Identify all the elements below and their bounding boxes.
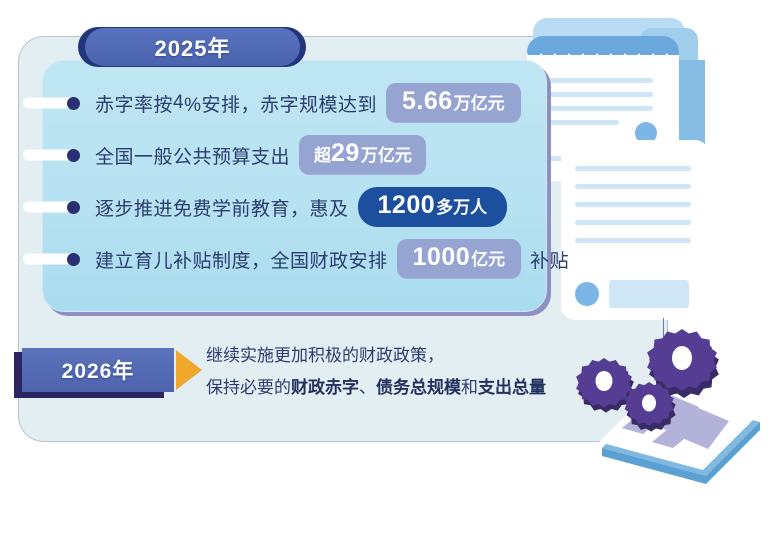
- document-block: [609, 280, 689, 308]
- row-text-middle: %安排，赤字规模达到: [184, 90, 377, 117]
- row-inline-number: 4: [173, 92, 184, 114]
- row-text-after: 补贴: [530, 246, 569, 273]
- list-item: 建立育儿补贴制度，全国财政安排 1000亿元 补贴: [43, 233, 546, 285]
- badge-value: 1200: [378, 191, 436, 220]
- badge-unit: 多万人: [436, 193, 487, 218]
- line2-pre: 保持必要的: [206, 378, 291, 397]
- line2-bold-1: 财政赤字: [291, 378, 359, 397]
- badge-value: 29: [331, 139, 360, 168]
- bullet-marker: [23, 202, 79, 213]
- list-item: 逐步推进免费学前教育，惠及 1200多万人: [43, 181, 546, 233]
- line2-mid-2: 和: [461, 378, 478, 397]
- year-2026-text: 继续实施更加积极的财政政策， 保持必要的财政赤字、债务总规模和支出总量: [206, 340, 626, 404]
- line2-mid-1: 、: [359, 378, 376, 397]
- badge-value: 1000: [413, 243, 471, 272]
- line2-bold-2: 债务总规模: [376, 378, 461, 397]
- status-badge: 1200多万人: [358, 187, 508, 227]
- status-badge: 5.66万亿元: [386, 83, 521, 123]
- badge-unit: 万亿元: [454, 89, 505, 114]
- bullet-marker: [23, 150, 79, 161]
- badge-unit: 万亿元: [361, 141, 412, 166]
- row-text-before: 建立育儿补贴制度，全国财政安排: [95, 246, 388, 273]
- year-2026-line1: 继续实施更加积极的财政政策，: [206, 340, 626, 372]
- year-2026-tab[interactable]: 2026年: [22, 348, 174, 392]
- statement-list: 赤字率按4%安排，赤字规模达到 5.66万亿元 全国一般公共预算支出 超29万亿…: [43, 77, 546, 285]
- infographic-canvas: 赤字率按4%安排，赤字规模达到 5.66万亿元 全国一般公共预算支出 超29万亿…: [0, 0, 768, 533]
- year-2026-tab-label: 2026年: [62, 355, 135, 385]
- year-2026-line2: 保持必要的财政赤字、债务总规模和支出总量: [206, 372, 626, 404]
- badge-value: 5.66: [402, 87, 453, 116]
- row-text-before: 全国一般公共预算支出: [95, 142, 290, 169]
- document-card-bottom: [561, 140, 709, 320]
- status-badge: 1000亿元: [397, 239, 522, 279]
- gear-icon-medium: [625, 382, 676, 432]
- bullet-marker: [23, 98, 79, 109]
- list-item: 全国一般公共预算支出 超29万亿元: [43, 129, 546, 181]
- triangle-right-icon: [176, 350, 202, 390]
- year-2025-panel: 赤字率按4%安排，赤字规模达到 5.66万亿元 全国一般公共预算支出 超29万亿…: [42, 60, 547, 312]
- bullet-marker: [23, 254, 79, 265]
- zigzag-edge-icon: [527, 53, 679, 63]
- badge-unit: 亿元: [471, 245, 505, 270]
- year-2025-tab[interactable]: 2025年: [85, 28, 300, 66]
- status-badge: 超29万亿元: [299, 135, 426, 175]
- row-text-before: 赤字率按: [95, 90, 173, 117]
- year-2025-tab-label: 2025年: [155, 31, 231, 63]
- line2-bold-3: 支出总量: [478, 378, 546, 397]
- list-item: 赤字率按4%安排，赤字规模达到 5.66万亿元: [43, 77, 546, 129]
- row-text-before: 逐步推进免费学前教育，惠及: [95, 194, 349, 221]
- badge-prefix: 超: [314, 141, 331, 166]
- document-dot: [575, 282, 599, 306]
